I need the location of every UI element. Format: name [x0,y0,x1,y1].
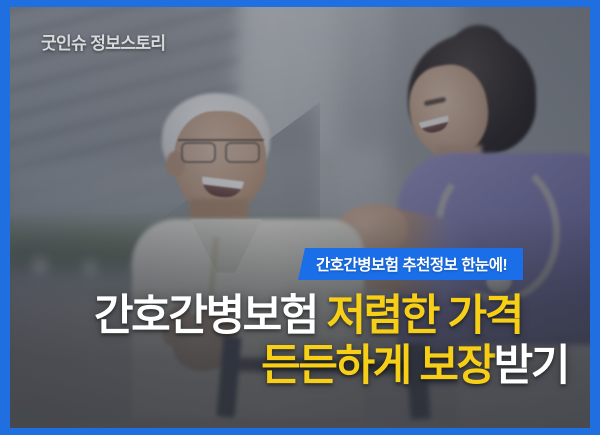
headline-line-1-white: 간호간병보험 [94,292,327,340]
badge-banner: 간호간병보험 추천정보 한눈에! [298,248,523,280]
headline-block: 간호간병보험 저렴한 가격 든든하게 보장받기 [94,291,568,391]
headline-line-2: 든든하게 보장받기 [94,341,568,391]
headline-line-1: 간호간병보험 저렴한 가격 [94,291,568,341]
promo-banner: 굿인슈 정보스토리 간호간병보험 추천정보 한눈에! 간호간병보험 저렴한 가격… [0,0,600,435]
headline-line-2-white: 받기 [494,342,568,390]
headline-line-2-accent: 든든하게 보장 [261,342,494,390]
brand-logo: 굿인슈 정보스토리 [41,29,165,54]
headline-line-1-accent: 저렴한 가격 [327,292,522,340]
banner-inner-frame: 굿인슈 정보스토리 간호간병보험 추천정보 한눈에! 간호간병보험 저렴한 가격… [10,7,590,428]
badge-label: 간호간병보험 추천정보 한눈에! [316,253,507,275]
